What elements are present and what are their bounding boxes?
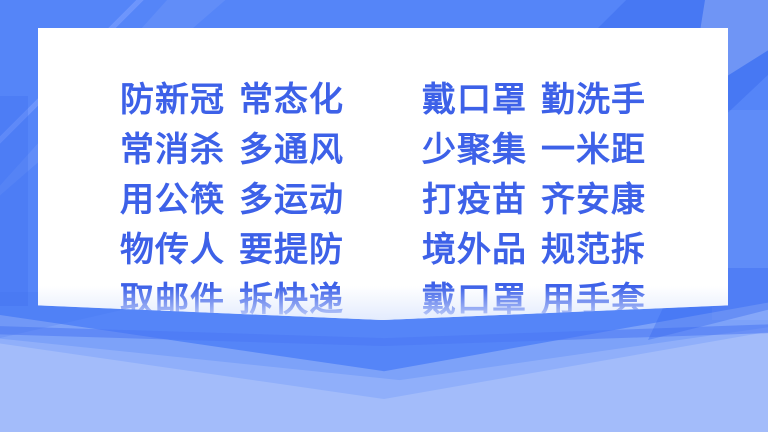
slogan-phrase-a: 物传人 <box>120 222 225 271</box>
slogan-phrase-b: 拆快递 <box>239 272 344 321</box>
slogan-line: 用公筷 多运动 <box>120 172 344 222</box>
slogan-line: 少聚集 一米距 <box>422 122 646 172</box>
decor-block-left-edge <box>0 96 28 306</box>
slogan-phrase-a: 戴口罩 <box>422 272 527 321</box>
slogan-phrase-b: 靠大家 <box>541 322 646 371</box>
slogan-line: 常消杀 多通风 <box>120 122 344 172</box>
slogan-line: 打疫苗 齐安康 <box>422 172 646 222</box>
slogan-phrase-b: 规范拆 <box>541 222 646 271</box>
slogan-phrase-a: 常消杀 <box>120 122 225 171</box>
slogan-line: 防新冠 常态化 <box>120 72 344 122</box>
slogan-phrase-b: 要提防 <box>239 222 344 271</box>
slogan-phrase-b: 一米距 <box>541 122 646 171</box>
slogan-phrase-a: 随洗手 <box>120 322 225 371</box>
slogan-card: 防新冠 常态化 常消杀 多通风 用公筷 多运动 物传人 要提防 取邮件 拆快 <box>38 28 728 320</box>
slogan-phrase-a: 境外品 <box>422 222 527 271</box>
slogan-line: 物传人 要提防 <box>120 222 344 272</box>
slogan-grid: 防新冠 常态化 常消杀 多通风 用公筷 多运动 物传人 要提防 取邮件 拆快 <box>38 72 728 372</box>
slogan-line: 境外品 规范拆 <box>422 222 646 272</box>
slogan-phrase-b: 用手套 <box>541 272 646 321</box>
slogan-phrase-a: 打疫苗 <box>422 172 527 221</box>
decor-band-front <box>0 314 768 432</box>
poster-canvas: 防新冠 常态化 常消杀 多通风 用公筷 多运动 物传人 要提防 取邮件 拆快 <box>0 0 768 432</box>
slogan-phrase-a: 戴口罩 <box>422 72 527 121</box>
slogan-line: 戴口罩 勤洗手 <box>422 72 646 122</box>
slogan-phrase-a: 取邮件 <box>120 272 225 321</box>
slogan-line: 严防控 靠大家 <box>422 322 646 372</box>
slogan-phrase-a: 用公筷 <box>120 172 225 221</box>
slogan-phrase-b: 常态化 <box>239 72 344 121</box>
decor-band-edge <box>0 324 768 346</box>
slogan-line: 取邮件 拆快递 <box>120 272 344 322</box>
slogan-phrase-a: 防新冠 <box>120 72 225 121</box>
slogan-phrase-b: 多运动 <box>239 172 344 221</box>
slogan-line: 戴口罩 用手套 <box>422 272 646 322</box>
slogan-line: 随洗手 必消毒 <box>120 322 344 372</box>
slogan-phrase-a: 严防控 <box>422 322 527 371</box>
slogan-phrase-b: 必消毒 <box>239 322 344 371</box>
slogan-phrase-a: 少聚集 <box>422 122 527 171</box>
slogan-phrase-b: 齐安康 <box>541 172 646 221</box>
slogan-column-right: 戴口罩 勤洗手 少聚集 一米距 打疫苗 齐安康 境外品 规范拆 戴口罩 用手 <box>422 72 646 372</box>
slogan-phrase-b: 勤洗手 <box>541 72 646 121</box>
slogan-phrase-b: 多通风 <box>239 122 344 171</box>
slogan-column-left: 防新冠 常态化 常消杀 多通风 用公筷 多运动 物传人 要提防 取邮件 拆快 <box>120 72 344 372</box>
